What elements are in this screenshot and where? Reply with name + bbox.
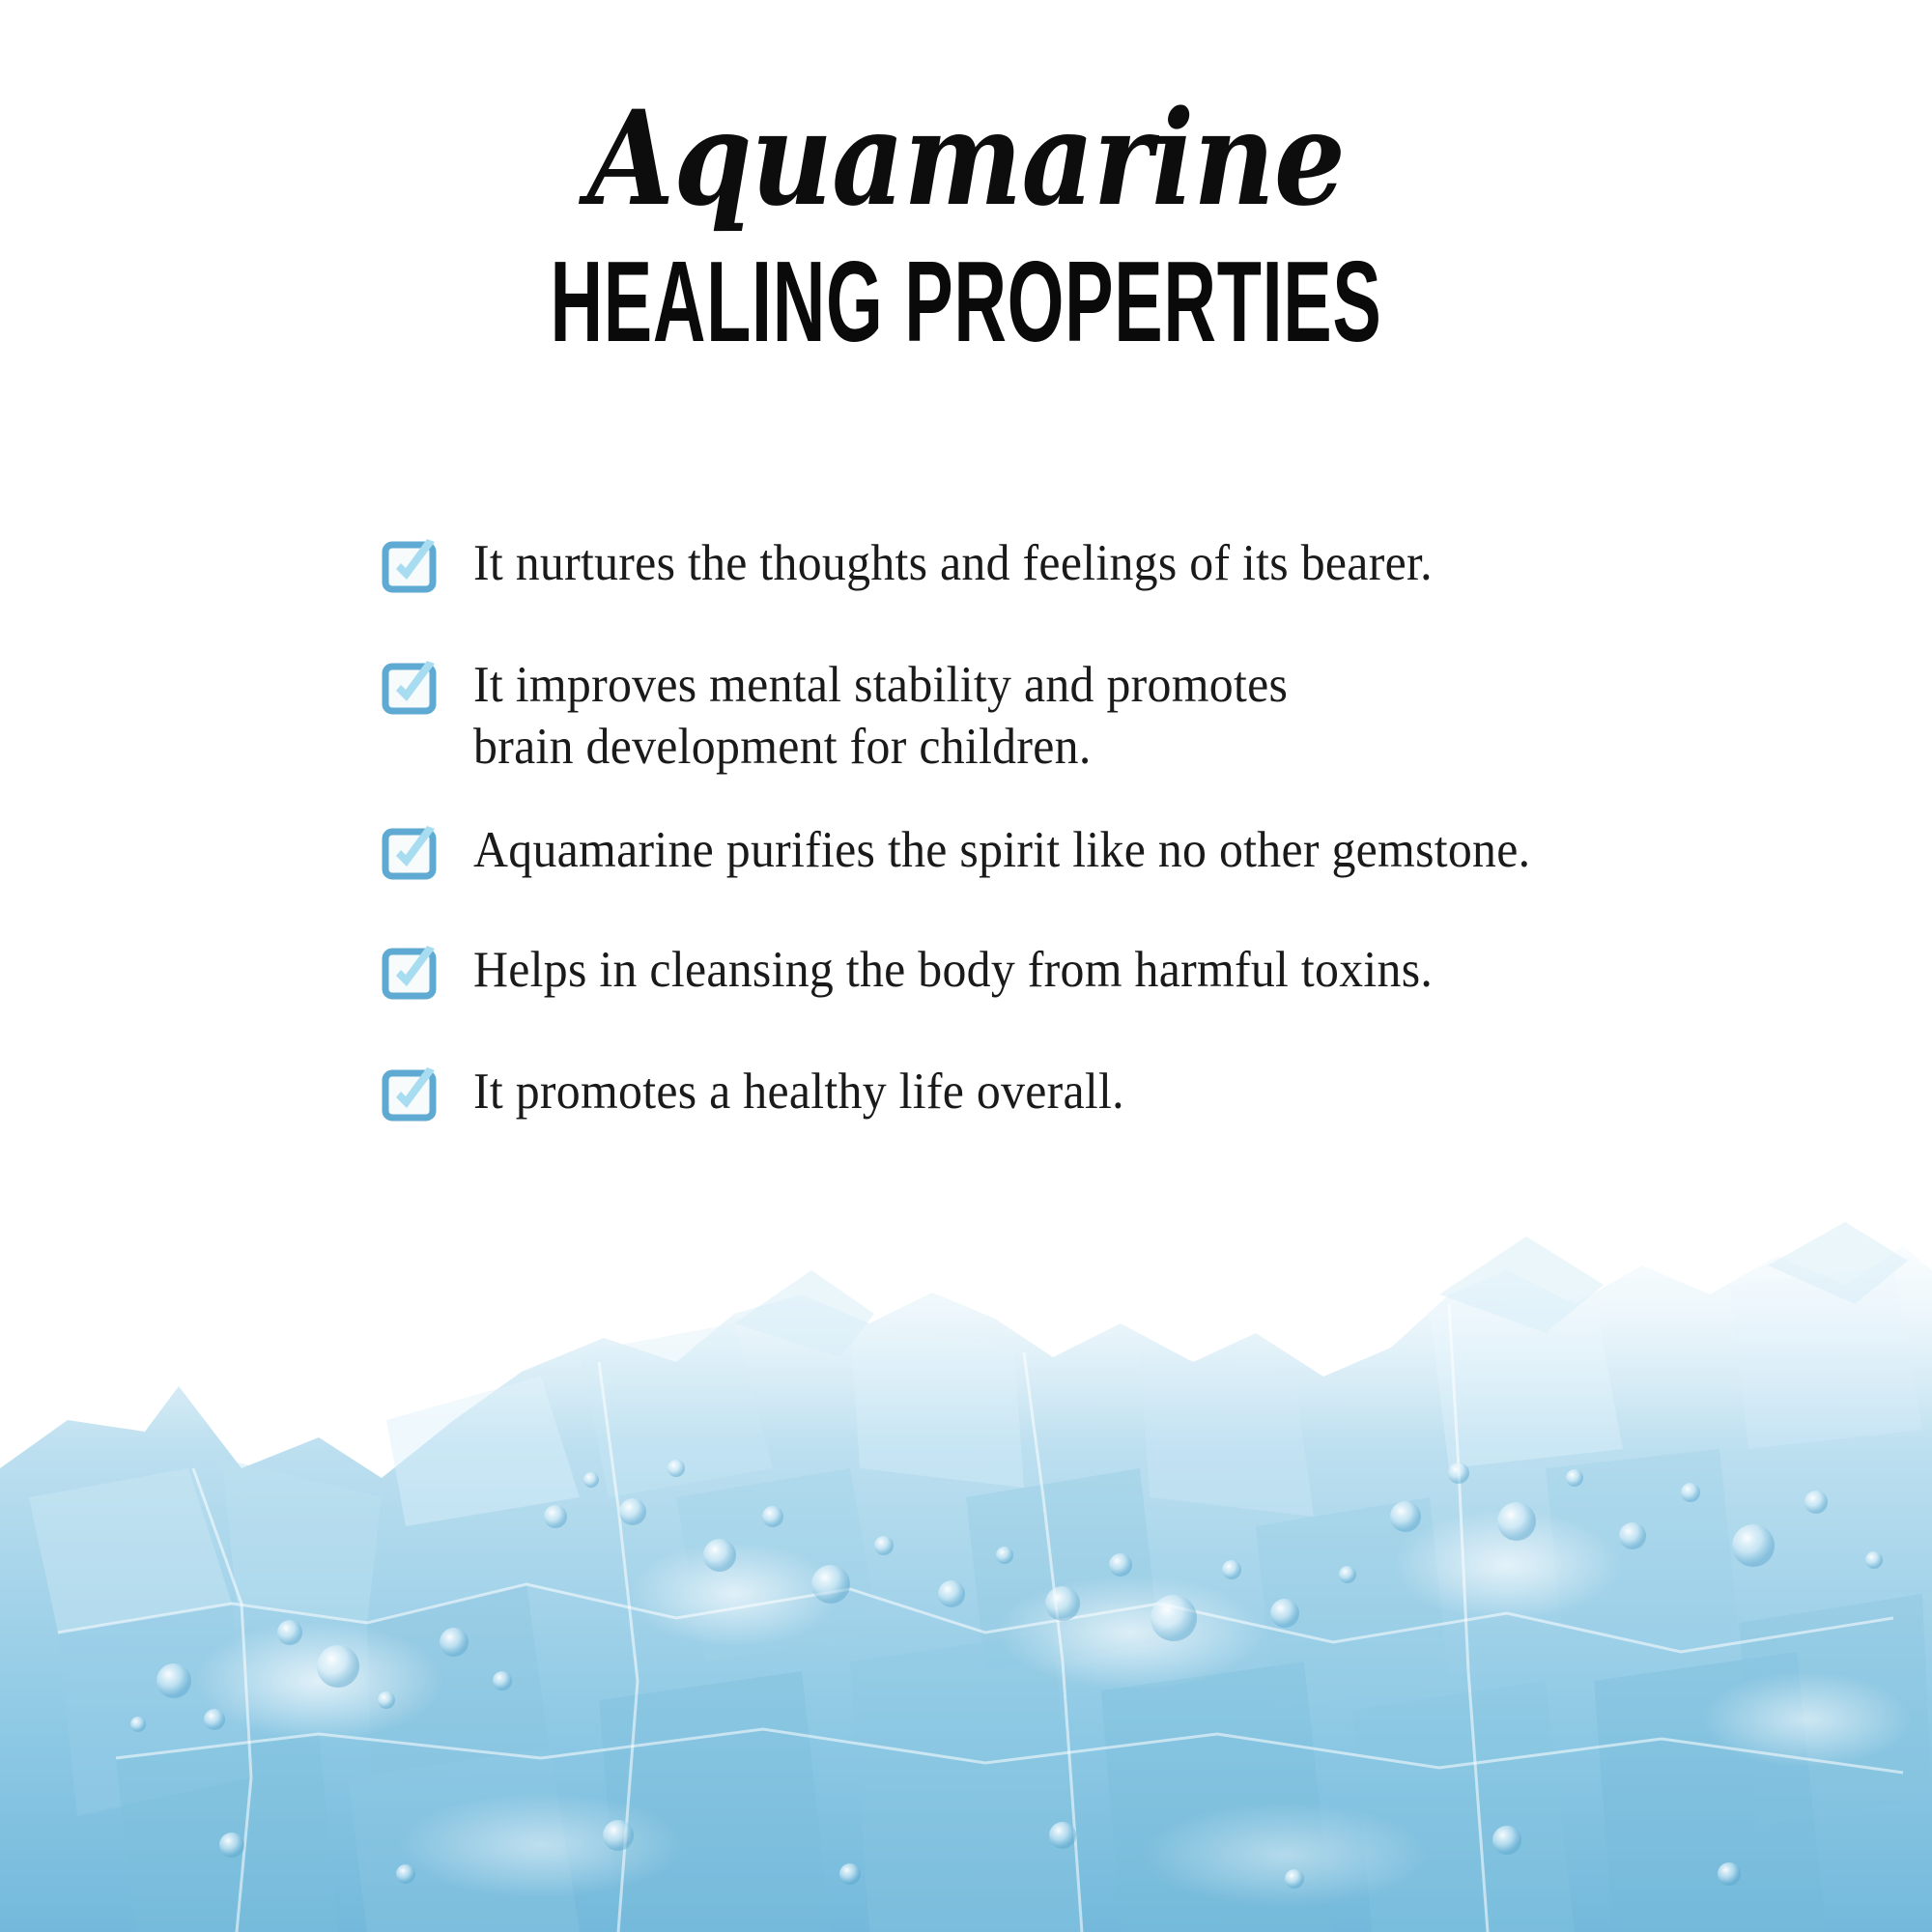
list-item-label: Helps in cleansing the body from harmful… bbox=[473, 940, 1705, 1002]
ice-cubes-photo bbox=[0, 1179, 1932, 1932]
heading-block: Aquamarine HEALING PROPERTIES bbox=[0, 93, 1932, 349]
list-item-label: It improves mental stability and promote… bbox=[473, 655, 1705, 778]
list-item-label: It nurtures the thoughts and feelings of… bbox=[473, 533, 1705, 595]
list-item: It promotes a healthy life overall. bbox=[383, 1062, 1783, 1123]
list-gap bbox=[383, 1002, 1783, 1062]
list-item: It improves mental stability and promote… bbox=[383, 655, 1783, 778]
list-gap bbox=[383, 882, 1783, 940]
list-item-label: It promotes a healthy life overall. bbox=[473, 1062, 1705, 1123]
checkbox-checked-icon[interactable] bbox=[383, 946, 439, 1002]
checkbox-checked-icon[interactable] bbox=[383, 539, 439, 595]
checkbox-checked-icon[interactable] bbox=[383, 826, 439, 882]
checkbox-checked-icon[interactable] bbox=[383, 1067, 439, 1123]
poster-canvas: Aquamarine HEALING PROPERTIES It nurture… bbox=[0, 0, 1932, 1932]
list-item: Aquamarine purifies the spirit like no o… bbox=[383, 820, 1783, 882]
list-item-label: Aquamarine purifies the spirit like no o… bbox=[473, 820, 1705, 882]
list-item: Helps in cleansing the body from harmful… bbox=[383, 940, 1783, 1002]
checkbox-checked-icon[interactable] bbox=[383, 661, 439, 717]
list-gap bbox=[383, 778, 1783, 820]
healing-properties-list: It nurtures the thoughts and feelings of… bbox=[383, 533, 1783, 1123]
page-subtitle: HEALING PROPERTIES bbox=[290, 244, 1642, 359]
page-title: Aquamarine bbox=[135, 93, 1797, 223]
list-gap bbox=[383, 595, 1783, 655]
list-item: It nurtures the thoughts and feelings of… bbox=[383, 533, 1783, 595]
